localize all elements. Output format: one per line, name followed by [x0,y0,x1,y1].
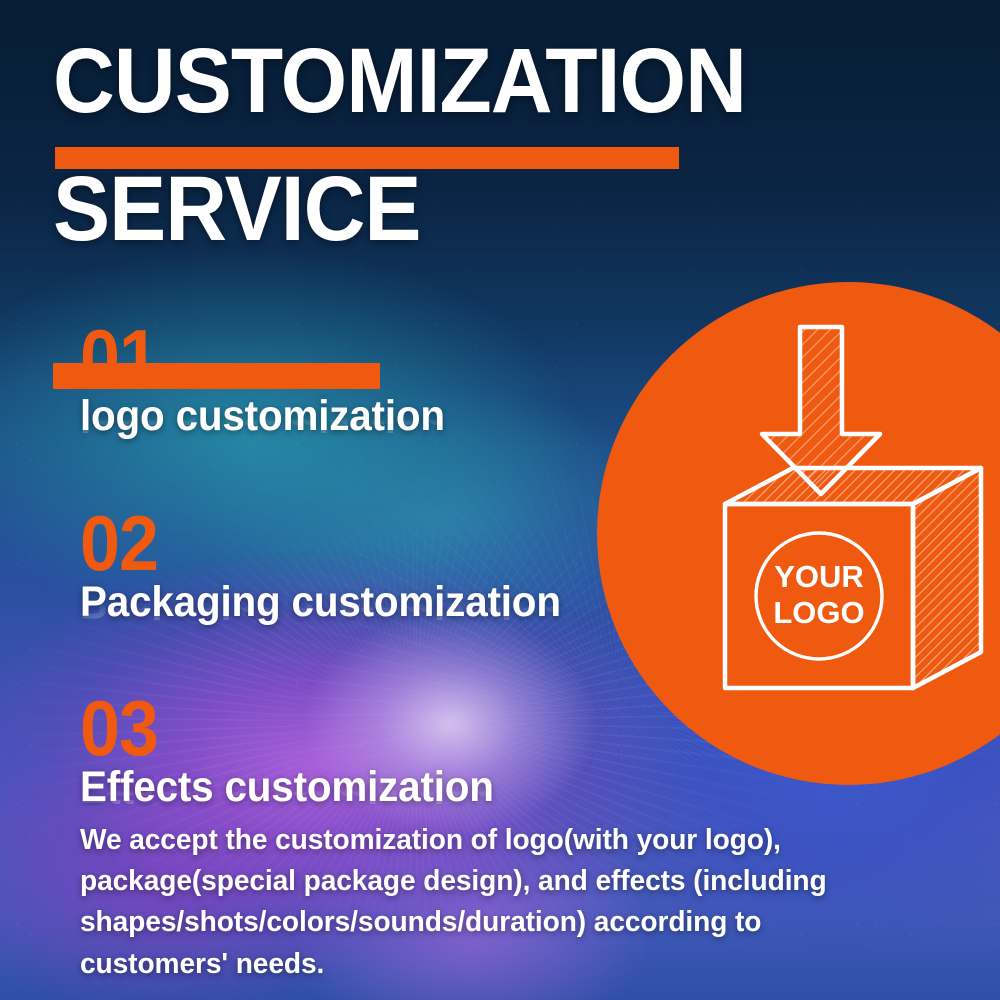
service-item-label: logo customization [80,394,663,439]
logo-placeholder-circle: YOUR LOGO [756,533,882,659]
body-paragraph: We accept the customization of logo(with… [80,820,827,985]
headline-line2-wrapper: SERVICE [53,170,773,280]
service-item-label: Packaging customization [80,580,663,625]
headline-line1-wrapper: CUSTOMIZATION [53,42,773,170]
service-item-number: 02 [80,508,650,580]
promo-poster: CUSTOMIZATION SERVICE 01 logo customizat… [0,0,1000,1000]
headline-line2: SERVICE [53,170,723,249]
service-item-label: Effects customization [80,765,663,810]
logo-text-line2: LOGO [773,595,864,630]
customization-badge: YOUR LOGO [597,282,1000,785]
package-illustration: YOUR LOGO [597,282,1000,785]
headline-block: CUSTOMIZATION SERVICE [53,42,773,280]
service-item-number: 03 [80,693,650,765]
service-item-number: 01 [80,322,650,394]
logo-text-line1: YOUR [774,559,864,594]
headline-line1: CUSTOMIZATION [53,42,723,121]
